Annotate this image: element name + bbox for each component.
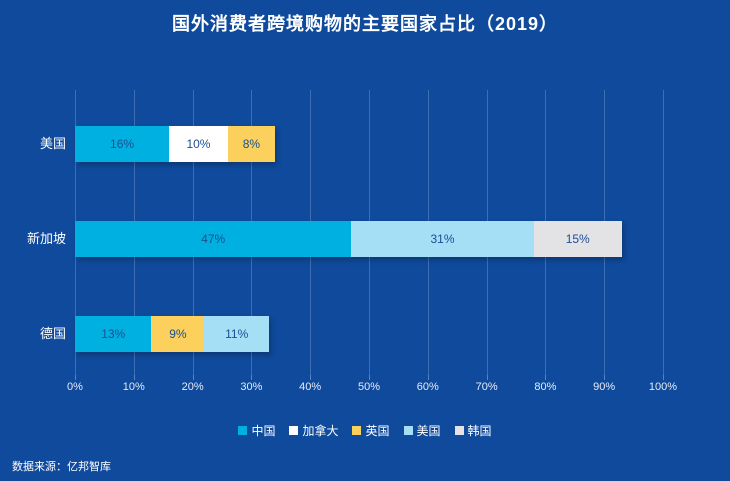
- axis-tick-90: [604, 375, 605, 380]
- axis-tick-40: [310, 375, 311, 380]
- bar-segment-label: 11%: [225, 327, 248, 341]
- axis-tick-70: [487, 375, 488, 380]
- axis-tick-100: [663, 375, 664, 380]
- legend-label: 英国: [365, 422, 389, 439]
- bar-segment-label: 16%: [110, 137, 134, 151]
- axis-tick-30: [251, 375, 252, 380]
- bar-row[interactable]: 16%10%8%: [75, 126, 275, 162]
- legend-label: 美国: [417, 422, 441, 439]
- legend-label: 中国: [251, 422, 275, 439]
- bar-row[interactable]: 13%9%11%: [75, 316, 269, 352]
- axis-tick-20: [193, 375, 194, 380]
- bar-segment-label: 8%: [243, 137, 260, 151]
- axis-tick-80: [545, 375, 546, 380]
- bar-segment-label: 15%: [566, 232, 590, 246]
- axis-tick-10: [134, 375, 135, 380]
- bar-segment-label: 31%: [430, 232, 454, 246]
- x-axis-labels: 0%10%20%30%40%50%60%70%80%90%100%: [0, 381, 730, 399]
- bar-segment-label: 47%: [201, 232, 225, 246]
- bar-segment[interactable]: 31%: [351, 221, 533, 257]
- legend-swatch-icon: [455, 426, 464, 435]
- chart-title: 国外消费者跨境购物的主要国家占比（2019）: [0, 10, 730, 36]
- bar-segment[interactable]: 16%: [75, 126, 169, 162]
- bar-segment[interactable]: 15%: [534, 221, 622, 257]
- source-note: 数据来源：亿邦智库: [12, 458, 111, 474]
- bar-segment[interactable]: 10%: [169, 126, 228, 162]
- gridline-100: [663, 90, 664, 375]
- legend-item[interactable]: 中国: [238, 422, 275, 439]
- x-axis-label: 20%: [182, 381, 204, 393]
- legend-item[interactable]: 美国: [404, 422, 441, 439]
- x-axis-label: 100%: [649, 381, 677, 393]
- category-label-0: 美国: [0, 126, 66, 162]
- bar-segment-label: 13%: [101, 327, 125, 341]
- x-axis-label: 70%: [476, 381, 498, 393]
- legend-swatch-icon: [289, 426, 298, 435]
- axis-tick-50: [369, 375, 370, 380]
- chart-legend: 中国加拿大英国美国韩国: [0, 422, 730, 439]
- legend-swatch-icon: [352, 426, 361, 435]
- bar-segment[interactable]: 8%: [228, 126, 275, 162]
- legend-swatch-icon: [404, 426, 413, 435]
- bar-segment[interactable]: 9%: [151, 316, 204, 352]
- bar-segment-label: 10%: [186, 137, 210, 151]
- legend-swatch-icon: [238, 426, 247, 435]
- legend-label: 加拿大: [302, 422, 338, 439]
- bar-row[interactable]: 47%31%15%: [75, 221, 622, 257]
- x-axis-label: 60%: [417, 381, 439, 393]
- legend-item[interactable]: 加拿大: [289, 422, 338, 439]
- legend-label: 韩国: [468, 422, 492, 439]
- x-axis-label: 10%: [123, 381, 145, 393]
- category-label-2: 德国: [0, 316, 66, 352]
- bar-segment[interactable]: 47%: [75, 221, 351, 257]
- plot-area: 16%10%8%47%31%15%13%9%11%: [75, 90, 663, 375]
- x-axis-label: 0%: [67, 381, 83, 393]
- bar-segment[interactable]: 11%: [204, 316, 269, 352]
- x-axis-label: 80%: [534, 381, 556, 393]
- legend-item[interactable]: 韩国: [455, 422, 492, 439]
- axis-tick-60: [428, 375, 429, 380]
- category-label-1: 新加坡: [0, 221, 66, 257]
- bar-segment-label: 9%: [169, 327, 186, 341]
- x-axis-label: 50%: [358, 381, 380, 393]
- bar-segment[interactable]: 13%: [75, 316, 151, 352]
- x-axis-label: 30%: [240, 381, 262, 393]
- axis-tick-0: [75, 375, 76, 380]
- legend-item[interactable]: 英国: [352, 422, 389, 439]
- x-axis-label: 90%: [593, 381, 615, 393]
- x-axis-label: 40%: [299, 381, 321, 393]
